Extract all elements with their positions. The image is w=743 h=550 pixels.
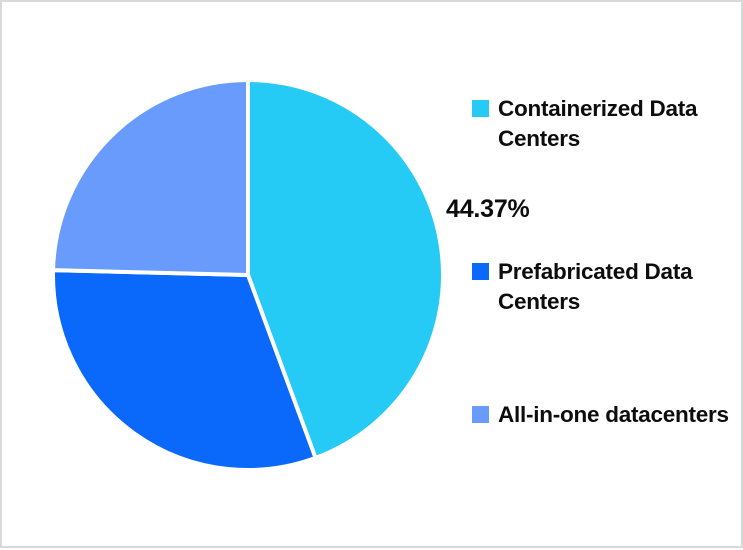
pie-slice[interactable]	[53, 80, 248, 275]
legend-swatch-containerized	[472, 100, 489, 117]
pie-svg	[2, 2, 462, 550]
pie-slice-group	[53, 80, 443, 470]
pie-chart-figure: 44.37% Containerized Data Centers Prefab…	[0, 0, 743, 548]
legend-item-containerized[interactable]: Containerized Data Centers	[472, 94, 740, 154]
legend-label-containerized: Containerized Data Centers	[498, 94, 740, 154]
legend-item-all-in-one[interactable]: All-in-one datacenters	[472, 400, 740, 430]
legend-label-prefabricated: Prefabricated Data Centers	[498, 257, 740, 317]
legend-label-all-in-one: All-in-one datacenters	[498, 400, 729, 430]
legend-item-prefabricated[interactable]: Prefabricated Data Centers	[472, 257, 740, 317]
data-label-containerized-share: 44.37%	[446, 195, 530, 224]
legend-swatch-prefabricated	[472, 263, 489, 280]
legend-swatch-all-in-one	[472, 406, 489, 423]
pie-plot-area	[2, 2, 462, 550]
